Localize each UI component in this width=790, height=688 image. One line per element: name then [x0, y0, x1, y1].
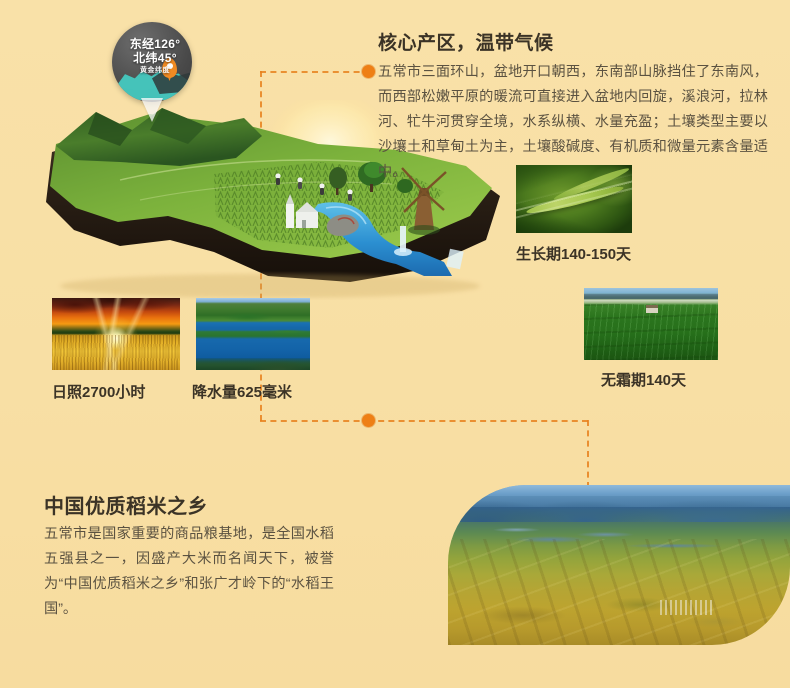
caption-sunshine: 日照2700小时 [52, 381, 145, 402]
connector-line-top-horizontal [260, 71, 370, 73]
connector-line-bottom-horizontal [368, 420, 588, 422]
pin-tail [141, 98, 163, 122]
photo-sunshine [52, 298, 180, 370]
caption-rainfall: 降水量625毫米 [192, 381, 292, 402]
pin-circle [112, 22, 192, 102]
terrain-shadow [60, 274, 480, 298]
photo-growth-period [516, 165, 632, 233]
coordinates-map-pin: 东经126° 北纬45° 黄金纬度 [112, 22, 198, 122]
caption-growth-period: 生长期140-150天 [516, 243, 631, 264]
caption-frost-free: 无霜期140天 [601, 369, 686, 390]
connector-dot-top [362, 65, 375, 78]
photo-farmland-plain [448, 485, 790, 645]
connector-dot-bottom [362, 414, 375, 427]
location-marker-icon [162, 58, 177, 78]
climate-title: 核心产区，温带气候 [378, 28, 554, 55]
rice-home-title: 中国优质稻米之乡 [44, 490, 208, 519]
connector-line-mid-horizontal [260, 420, 370, 422]
photo-rainfall [196, 298, 310, 370]
rice-home-body: 五常市是国家重要的商品粮基地，是全国水稻五强县之一，因盛产大米而名闻天下，被誉为… [44, 522, 334, 622]
connector-line-right-vertical [587, 420, 589, 488]
infographic-page: 东经126° 北纬45° 黄金纬度 核心产区，温带气候 五常市三面环山，盆地开口… [0, 0, 790, 688]
photo-frost-free [584, 288, 718, 360]
